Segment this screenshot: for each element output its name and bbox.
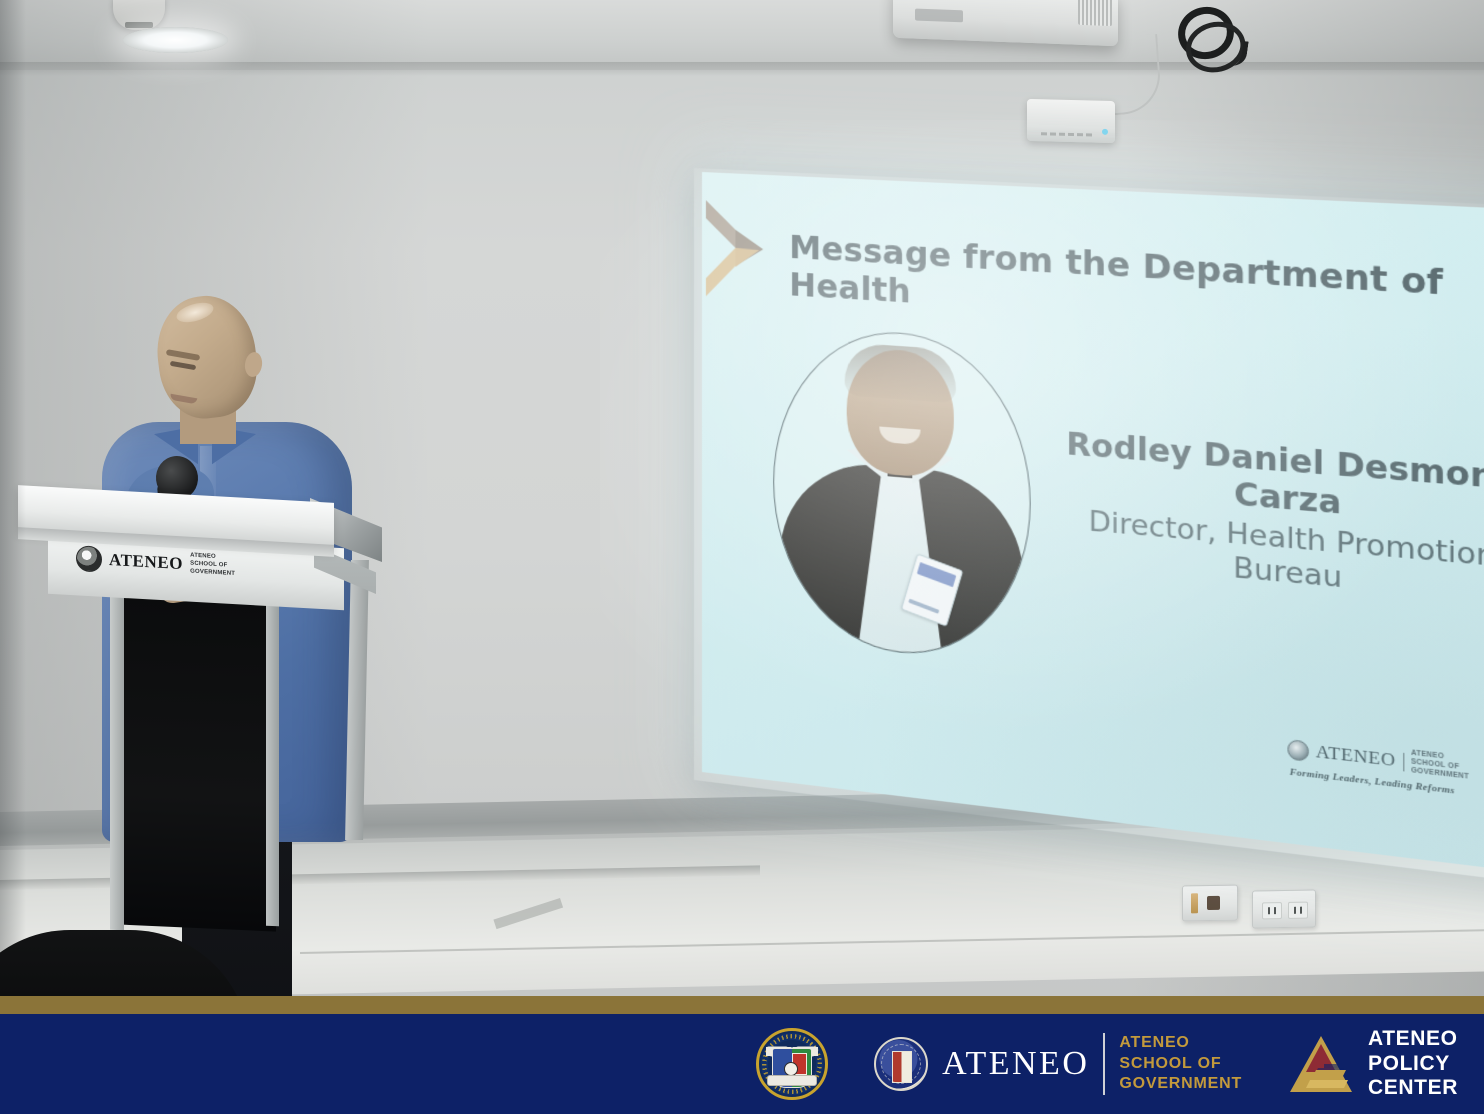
logo-divider bbox=[1103, 1033, 1105, 1095]
banner-gold-band bbox=[0, 996, 1484, 1014]
slide-footer-logo: ATENEO ATENEO SCHOOL OF GOVERNMENT Formi… bbox=[1287, 736, 1484, 811]
apc-line-1: ATENEO bbox=[1368, 1027, 1458, 1051]
banner-logo-row: ATENEO ATENEO SCHOOL OF GOVERNMENT bbox=[0, 1014, 1484, 1114]
apc-line-2: POLICY bbox=[1368, 1052, 1458, 1076]
lectern-body bbox=[116, 594, 276, 931]
wifi-access-point bbox=[1027, 99, 1115, 143]
policy-center-wordmark: ATENEO POLICY CENTER bbox=[1368, 1027, 1458, 1100]
lectern-unit: ATENEO SCHOOL OF GOVERNMENT bbox=[190, 553, 235, 579]
ateneo-wordmark: ATENEO bbox=[942, 1047, 1089, 1081]
device-label bbox=[1041, 132, 1093, 136]
ateneo-seal-icon bbox=[1287, 739, 1309, 762]
ateneo-unit-name: ATENEO SCHOOL OF GOVERNMENT bbox=[1119, 1033, 1242, 1094]
unit-line-1: ATENEO bbox=[1119, 1033, 1242, 1053]
slide-footer-wordmark: ATENEO bbox=[1316, 741, 1396, 772]
plate-slot bbox=[1191, 893, 1198, 913]
projector-lens bbox=[915, 9, 963, 23]
socket-left bbox=[1262, 902, 1282, 919]
logo-divider bbox=[1403, 752, 1404, 771]
chevron-decoration-icon bbox=[706, 200, 771, 300]
ateneo-seal-icon bbox=[76, 545, 102, 572]
slide-portrait bbox=[773, 325, 1031, 667]
apc-line-3: CENTER bbox=[1368, 1076, 1458, 1100]
projector-vent bbox=[1078, 0, 1112, 26]
lectern-post-middle bbox=[266, 602, 279, 927]
policy-center-triangle-icon bbox=[1288, 1034, 1354, 1094]
ateneo-policy-center-logo: ATENEO POLICY CENTER bbox=[1288, 1027, 1458, 1100]
power-wall-outlet[interactable] bbox=[1252, 889, 1316, 928]
unit-line-3: GOVERNMENT bbox=[1119, 1074, 1242, 1094]
doh-seal-logo bbox=[756, 1028, 828, 1100]
ateneo-school-of-government-logo: ATENEO ATENEO SCHOOL OF GOVERNMENT bbox=[874, 1033, 1242, 1095]
projected-slide[interactable]: Message from the Department of Health Ro… bbox=[702, 172, 1484, 878]
rj45-jack-icon bbox=[1207, 896, 1220, 910]
portrait-hair bbox=[845, 342, 956, 403]
presentation-photo-scene: Message from the Department of Health Ro… bbox=[0, 0, 1484, 1114]
sponsor-banner: ATENEO ATENEO SCHOOL OF GOVERNMENT bbox=[0, 996, 1484, 1114]
slide-footer-unit: ATENEO SCHOOL OF GOVERNMENT bbox=[1411, 749, 1469, 782]
ateneo-seal-icon bbox=[874, 1037, 928, 1091]
unit-line-3: GOVERNMENT bbox=[190, 568, 235, 578]
speaker-name-line-2: Carza bbox=[1234, 475, 1341, 521]
seal-ribbon bbox=[767, 1075, 817, 1086]
ceiling-light bbox=[123, 27, 228, 53]
socket-right bbox=[1288, 902, 1308, 919]
slide-speaker-block: Rodley Daniel Desmond Carza Director, He… bbox=[1039, 425, 1484, 616]
frame-vignette-left bbox=[0, 0, 26, 998]
lectern-wordmark: ATENEO bbox=[109, 550, 183, 574]
network-wall-plate[interactable] bbox=[1182, 885, 1238, 922]
unit-line-2: SCHOOL OF bbox=[1119, 1054, 1242, 1074]
lectern-post-left bbox=[110, 594, 124, 931]
